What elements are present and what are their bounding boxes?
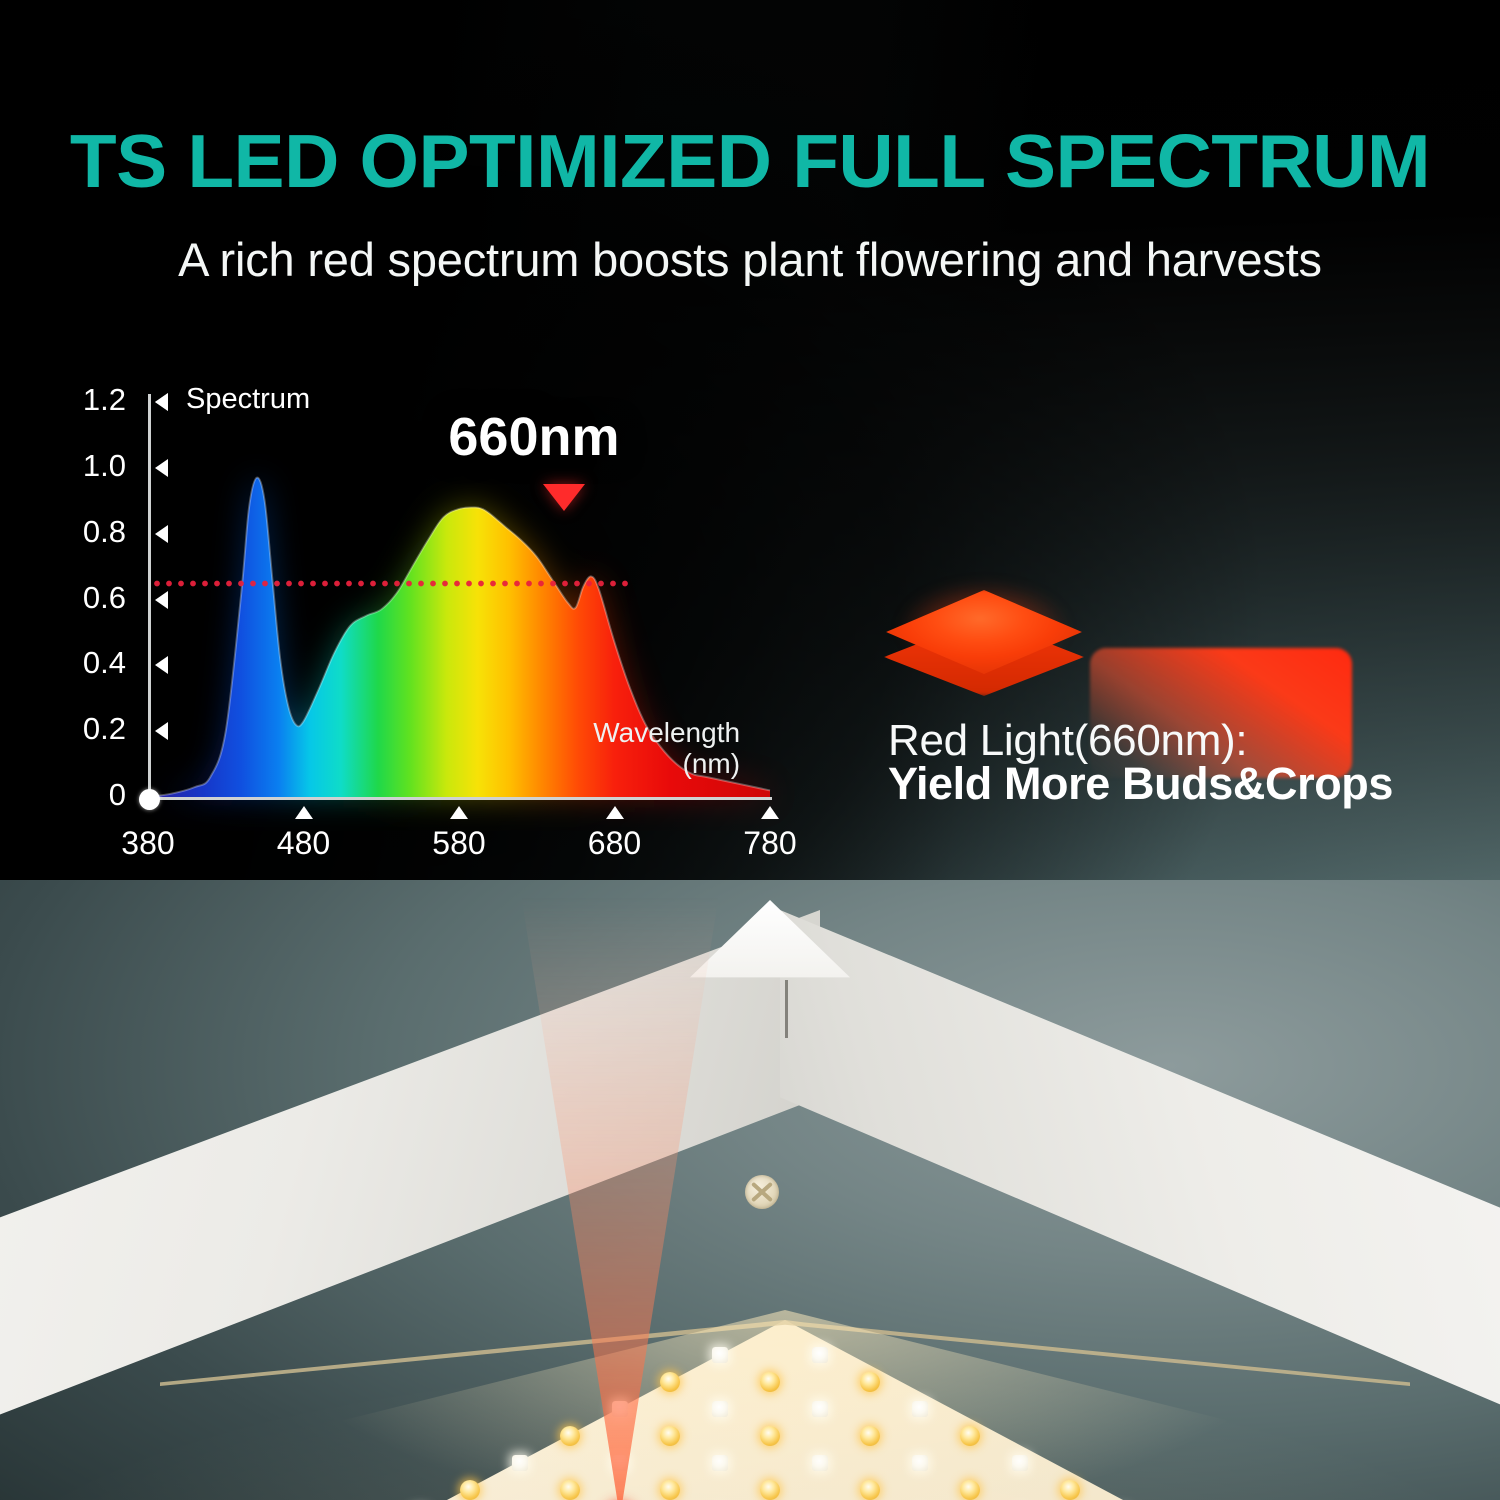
wavelength-axis-label: Wavelength(nm) [560, 717, 740, 780]
x-tick-mark [295, 806, 313, 819]
spectrum-axis-label: Spectrum [186, 383, 310, 416]
amber-led [560, 1426, 580, 1446]
amber-led [860, 1372, 880, 1392]
led-grow-light-panel [0, 880, 1500, 1500]
y-tick-label: 0.6 [56, 580, 126, 616]
amber-led [860, 1480, 880, 1500]
spectrum-chart-svg [0, 360, 880, 860]
white-led [912, 1455, 928, 1471]
y-tick-mark [155, 459, 168, 477]
wavelength-label-text: Wavelength [560, 717, 740, 748]
white-led [912, 1401, 928, 1417]
x-tick-label: 480 [244, 825, 364, 862]
y-tick-mark [155, 525, 168, 543]
page-title: TS LED OPTIMIZED FULL SPECTRUM [0, 118, 1500, 204]
x-tick-label: 380 [88, 825, 208, 862]
amber-led [1060, 1480, 1080, 1500]
white-led [712, 1347, 728, 1363]
y-tick-label: 0.4 [56, 645, 126, 681]
x-axis-line [148, 797, 772, 800]
callout-line-2: Yield More Buds&Crops [888, 758, 1393, 810]
wavelength-label-unit: (nm) [560, 748, 740, 779]
white-led [712, 1455, 728, 1471]
amber-led [460, 1480, 480, 1500]
mounting-screw [745, 1175, 779, 1209]
threshold-dotted-line [151, 580, 633, 587]
amber-led [760, 1372, 780, 1392]
white-led [512, 1455, 528, 1471]
white-led [812, 1455, 828, 1471]
y-tick-label: 1.0 [56, 448, 126, 484]
amber-led [760, 1426, 780, 1446]
amber-led [960, 1480, 980, 1500]
y-tick-mark [155, 722, 168, 740]
white-led [812, 1347, 828, 1363]
y-tick-label: 0.8 [56, 514, 126, 550]
product-feature-graphic: TS LED OPTIMIZED FULL SPECTRUM A rich re… [0, 0, 1500, 1500]
x-tick-label: 580 [399, 825, 519, 862]
y-tick-label: 0.2 [56, 711, 126, 747]
amber-led [560, 1480, 580, 1500]
x-tick-mark [450, 806, 468, 819]
amber-led [660, 1480, 680, 1500]
led-chip-icon [880, 588, 1088, 698]
x-tick-label: 780 [710, 825, 830, 862]
y-tick-label: 1.2 [56, 382, 126, 418]
x-tick-mark [606, 806, 624, 819]
y-tick-label: 0 [56, 777, 126, 813]
amber-led [960, 1426, 980, 1446]
peak-annotation-arrow [543, 484, 585, 511]
spectrum-chart: 00.20.40.60.81.01.2380480580680780Spectr… [0, 360, 880, 860]
amber-led [860, 1426, 880, 1446]
white-led [1012, 1455, 1028, 1471]
y-axis-line [148, 394, 151, 800]
x-tick-label: 680 [555, 825, 675, 862]
amber-led [660, 1372, 680, 1392]
white-led [812, 1401, 828, 1417]
lamp-seam-mark [785, 980, 788, 1038]
peak-annotation-label: 660nm [448, 406, 619, 468]
chart-origin-dot [139, 789, 160, 810]
page-subtitle: A rich red spectrum boosts plant floweri… [0, 232, 1500, 287]
x-tick-mark [761, 806, 779, 819]
spectrum-label-marker [155, 393, 168, 411]
white-led [712, 1401, 728, 1417]
y-tick-mark [155, 656, 168, 674]
y-tick-mark [155, 591, 168, 609]
amber-led [660, 1426, 680, 1446]
amber-led [760, 1480, 780, 1500]
